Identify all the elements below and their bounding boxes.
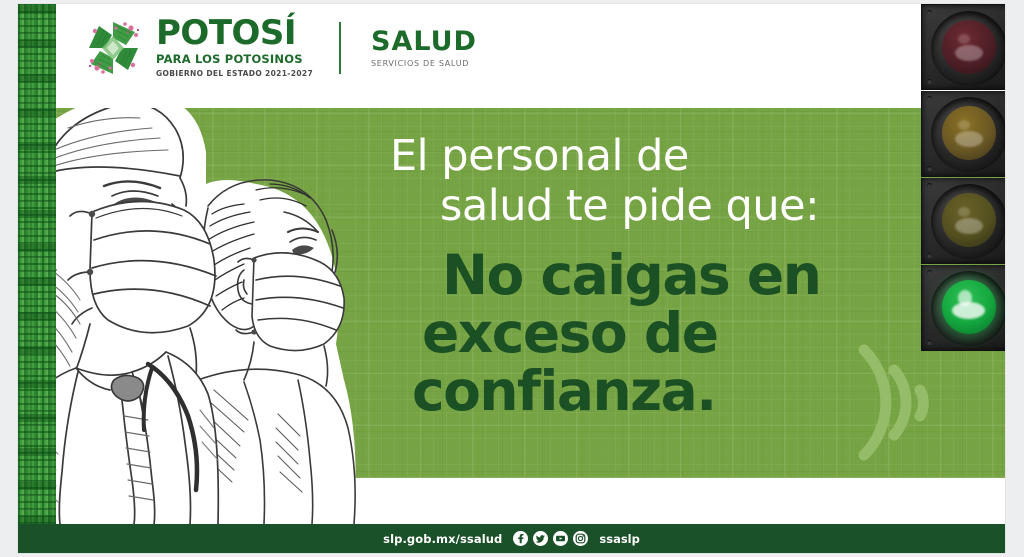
- lens-glint: [958, 290, 972, 306]
- instagram-icon[interactable]: [573, 531, 588, 546]
- potosi-wordmark: POTOSÍ: [156, 18, 313, 50]
- headline-bold-group: No caigas en exceso de confianza.: [390, 246, 860, 421]
- headline-line-2: salud te pide que:: [390, 182, 860, 232]
- twitter-icon[interactable]: [533, 531, 548, 546]
- traffic-light-green-section: [921, 265, 1005, 351]
- logo-lockup: POTOSÍ PARA LOS POTOSINOS GOBIERNO DEL E…: [86, 18, 477, 78]
- headline-bold-line-2: exceso de: [390, 304, 860, 362]
- lens-glint: [958, 120, 970, 130]
- traffic-light-red-section: [921, 4, 1005, 90]
- lamp-hood: [931, 11, 1005, 86]
- headline-group: El personal de salud te pide que: No cai…: [390, 132, 860, 421]
- lamp-hood: [931, 184, 1005, 259]
- banner-footer: slp.gob.mx/ssalud: [18, 524, 1005, 553]
- screw-icon: [927, 79, 932, 84]
- potosi-wordmark-block: POTOSÍ PARA LOS POTOSINOS GOBIERNO DEL E…: [156, 18, 313, 78]
- lamp-hood: [931, 271, 1005, 346]
- screw-icon: [927, 166, 932, 171]
- lamp-hood: [931, 97, 1005, 172]
- green-light: [942, 280, 996, 334]
- screw-icon: [927, 183, 932, 188]
- footer-social-icons: [513, 531, 588, 546]
- facebook-icon[interactable]: [513, 531, 528, 546]
- potosi-pinwheel-emblem-icon: [86, 18, 142, 78]
- screw-icon: [927, 340, 932, 345]
- footer-website-url[interactable]: slp.gob.mx/ssalud: [383, 532, 502, 546]
- traffic-light-amber-section: [921, 91, 1005, 177]
- health-workers-illustration: [48, 80, 378, 524]
- headline-bold-line-3: confianza.: [390, 362, 860, 420]
- health-campaign-banner: POTOSÍ PARA LOS POTOSINOS GOBIERNO DEL E…: [18, 4, 1005, 553]
- headline-bold-line-1: No caigas en: [390, 246, 860, 304]
- greca-pattern-strip: [18, 4, 56, 524]
- lens-glint: [955, 218, 983, 234]
- traffic-light-graphic: [921, 4, 1005, 354]
- lens-glint: [958, 34, 970, 44]
- salud-wordmark: SALUD: [371, 28, 477, 55]
- headline-line-1: El personal de: [390, 132, 860, 182]
- red-light: [942, 20, 996, 74]
- logo-divider: [339, 22, 341, 74]
- potosi-tagline: PARA LOS POTOSINOS: [156, 52, 313, 66]
- greca-pattern-blocks: [18, 4, 56, 524]
- amber-light: [942, 106, 996, 160]
- lens-glint: [955, 131, 983, 147]
- traffic-light-olive-section: [921, 178, 1005, 264]
- government-line: GOBIERNO DEL ESTADO 2021-2027: [156, 69, 313, 78]
- salud-tagline: SERVICIOS DE SALUD: [371, 59, 477, 68]
- screw-icon: [927, 270, 932, 275]
- footer-social-handle[interactable]: ssaslp: [599, 532, 639, 546]
- youtube-icon[interactable]: [553, 531, 568, 546]
- lens-glint: [958, 207, 970, 217]
- salud-wordmark-block: SALUD SERVICIOS DE SALUD: [371, 28, 477, 68]
- screw-icon: [927, 96, 932, 101]
- olive-light: [942, 193, 996, 247]
- screenshot-viewport: POTOSÍ PARA LOS POTOSINOS GOBIERNO DEL E…: [0, 0, 1024, 557]
- banner-header: POTOSÍ PARA LOS POTOSINOS GOBIERNO DEL E…: [56, 4, 1005, 108]
- screw-icon: [927, 253, 932, 258]
- screw-icon: [927, 10, 932, 15]
- lens-glint: [955, 45, 983, 61]
